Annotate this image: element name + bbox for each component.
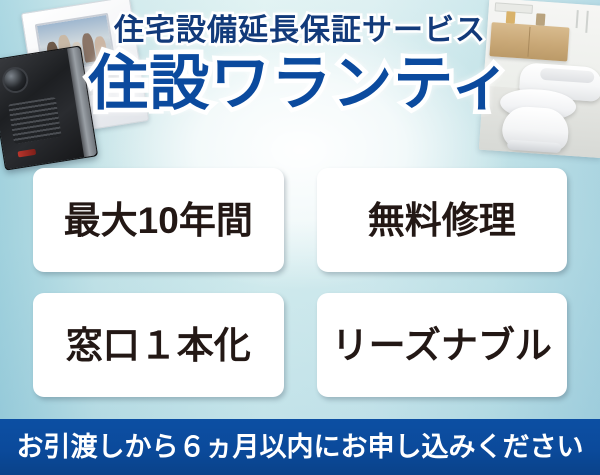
footer-banner: お引渡しから６ヵ月以内にお申し込みください	[0, 419, 600, 475]
service-subtitle: 住宅設備延長保証サービス	[0, 16, 600, 46]
call-button	[17, 149, 36, 158]
feature-label: 無料修理	[368, 202, 516, 239]
feature-label: リーズナブル	[332, 327, 552, 364]
feature-card-single-contact: 窓口１本化	[33, 293, 284, 397]
page-title: 住設ワランティ	[0, 52, 600, 115]
feature-card-free-repair: 無料修理	[317, 168, 568, 272]
promo-banner: 住宅設備延長保証サービス 住設ワランティ 最大10年間 無料修理 窓口１本化 リ…	[0, 0, 600, 475]
feature-card-reasonable: リーズナブル	[317, 293, 568, 397]
feature-card-grid: 最大10年間 無料修理 窓口１本化 リーズナブル	[33, 168, 567, 397]
feature-label: 最大10年間	[64, 202, 253, 239]
footer-message: お引渡しから６ヵ月以内にお申し込みください	[17, 434, 584, 461]
feature-card-max-10-years: 最大10年間	[33, 168, 284, 272]
headline-block: 住宅設備延長保証サービス 住設ワランティ	[0, 0, 600, 115]
feature-label: 窓口１本化	[66, 327, 251, 364]
